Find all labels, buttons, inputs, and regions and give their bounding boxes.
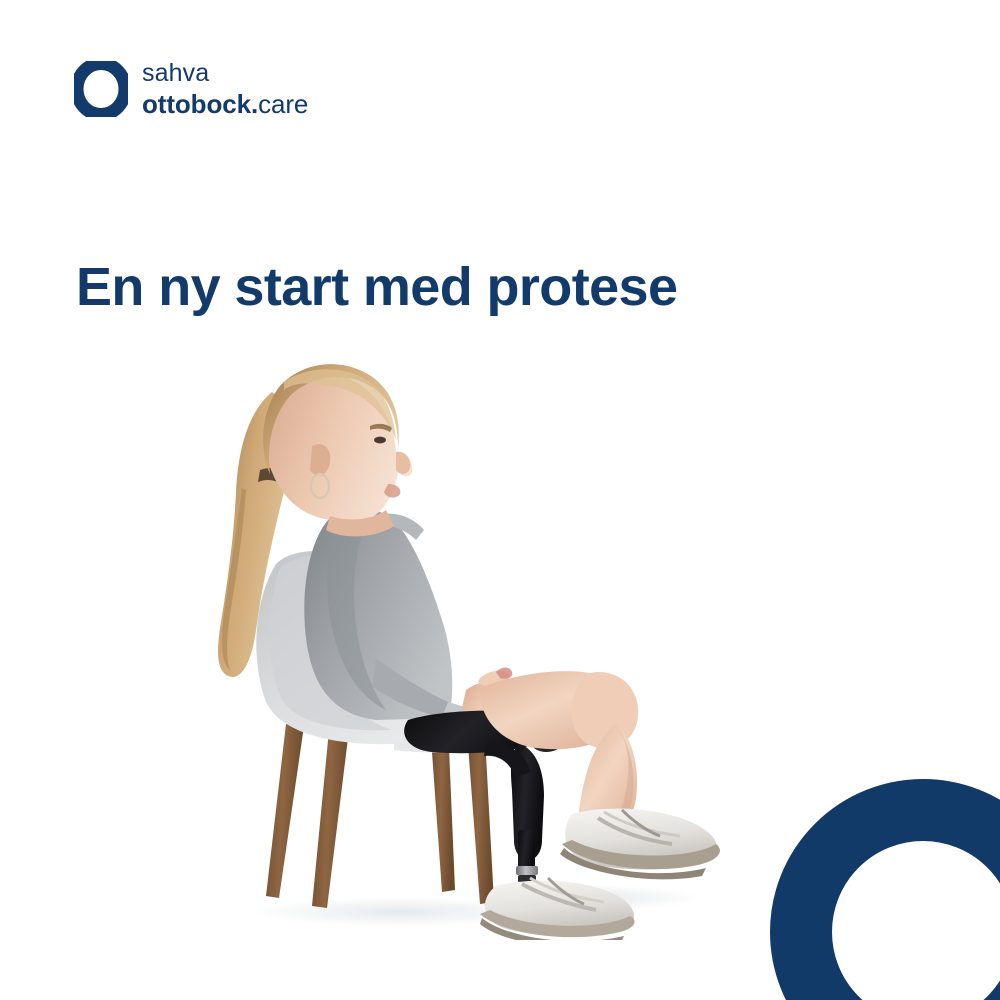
logo-line-ottobock-care: ottobock.care [142, 91, 308, 117]
hero-photo [180, 320, 740, 940]
logo-wordmark: sahva ottobock.care [142, 60, 308, 117]
sneaker-right [560, 809, 720, 880]
ottobock-ring-logo-icon [74, 61, 128, 117]
seated-woman-prosthesis-illustration [180, 320, 740, 940]
poster-canvas: sahva ottobock.care En ny start med prot… [0, 0, 1000, 1000]
corner-ring-graphic [755, 770, 1000, 1000]
page-title: En ny start med protese [76, 258, 677, 316]
brand-logo[interactable]: sahva ottobock.care [74, 60, 308, 117]
logo-brand-care: care [258, 89, 308, 119]
logo-line-sahva: sahva [142, 61, 308, 86]
logo-brand-ottobock: ottobock [142, 89, 251, 119]
person-torso [304, 507, 486, 728]
